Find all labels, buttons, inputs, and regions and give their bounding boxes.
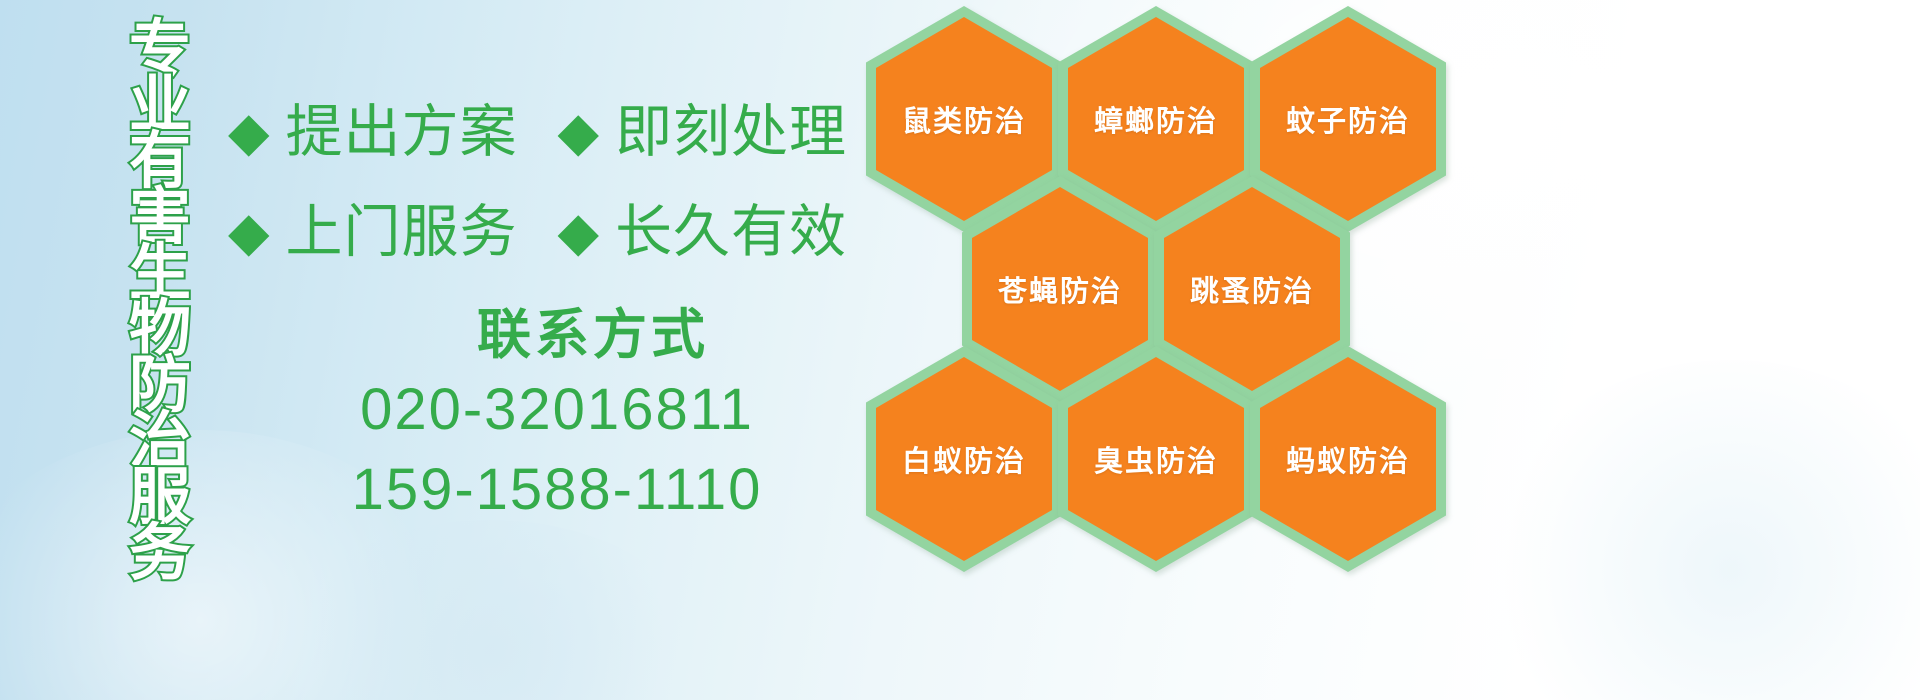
background-glow-bottom-right [1480, 360, 1920, 700]
vertical-headline-char: 业 [129, 78, 191, 134]
vertical-headline-char: 生 [129, 246, 191, 302]
contact-block: 联系方式 020-32016811 159-1588-1110 [228, 300, 868, 530]
feature-label: 上门服务 [286, 202, 518, 262]
feature-list: ◆ 提出方案 ◆ 即刻处理 ◆ 上门服务 ◆ 长久有效 [228, 82, 868, 282]
contact-phone-mobile[interactable]: 159-1588-1110 [246, 450, 868, 530]
vertical-headline-char: 服 [129, 470, 191, 526]
hex-label: 苍蝇防治 [998, 268, 1122, 310]
diamond-bullet-icon: ◆ [558, 205, 600, 259]
hex-label: 臭虫防治 [1094, 438, 1218, 480]
hex-label: 蚊子防治 [1286, 98, 1410, 140]
hex-cell-ant-control[interactable]: 蚂蚁防治 [1250, 346, 1446, 572]
diamond-bullet-icon: ◆ [228, 205, 270, 259]
background-glow-center-bottom [280, 520, 700, 700]
feature-row: ◆ 提出方案 ◆ 即刻处理 [228, 82, 868, 182]
hex-label: 白蚁防治 [902, 438, 1026, 480]
hex-label: 跳蚤防治 [1190, 268, 1314, 310]
service-honeycomb: 鼠类防治 蟑螂防治 蚊子防治 苍蝇防治 跳蚤防治 白蚁防治 [862, 0, 1462, 696]
feature-label: 即刻处理 [615, 102, 847, 162]
vertical-headline-char: 治 [129, 414, 191, 470]
feature-row: ◆ 上门服务 ◆ 长久有效 [228, 182, 868, 282]
vertical-headline-char: 物 [129, 302, 191, 358]
diamond-bullet-icon: ◆ [228, 105, 270, 159]
vertical-headline-char: 害 [129, 190, 191, 246]
vertical-headline: 专 业 有 害 生 物 防 治 服 务 [108, 22, 212, 582]
hex-label: 鼠类防治 [902, 98, 1026, 140]
hex-label: 蟑螂防治 [1094, 98, 1218, 140]
feature-label: 提出方案 [286, 102, 518, 162]
feature-item-long-lasting-effect: ◆ 长久有效 [558, 202, 848, 262]
contact-phone-landline[interactable]: 020-32016811 [246, 370, 868, 450]
hex-cell-bedbug-control[interactable]: 臭虫防治 [1058, 346, 1254, 572]
feature-item-door-to-door-service: ◆ 上门服务 [228, 202, 518, 262]
feature-item-propose-plan: ◆ 提出方案 [228, 102, 518, 162]
hex-cell-termite-control[interactable]: 白蚁防治 [866, 346, 1062, 572]
diamond-bullet-icon: ◆ [558, 105, 600, 159]
hex-label: 蚂蚁防治 [1286, 438, 1410, 480]
vertical-headline-char: 务 [129, 526, 191, 582]
feature-item-immediate-treatment: ◆ 即刻处理 [558, 102, 848, 162]
contact-title: 联系方式 [318, 300, 868, 370]
vertical-headline-char: 防 [129, 358, 191, 414]
vertical-headline-char: 专 [129, 22, 191, 78]
feature-label: 长久有效 [615, 202, 847, 262]
pest-control-banner: 专 业 有 害 生 物 防 治 服 务 ◆ 提出方案 ◆ 即刻处理 ◆ 上门服务 [0, 0, 1920, 700]
vertical-headline-char: 有 [129, 134, 191, 190]
